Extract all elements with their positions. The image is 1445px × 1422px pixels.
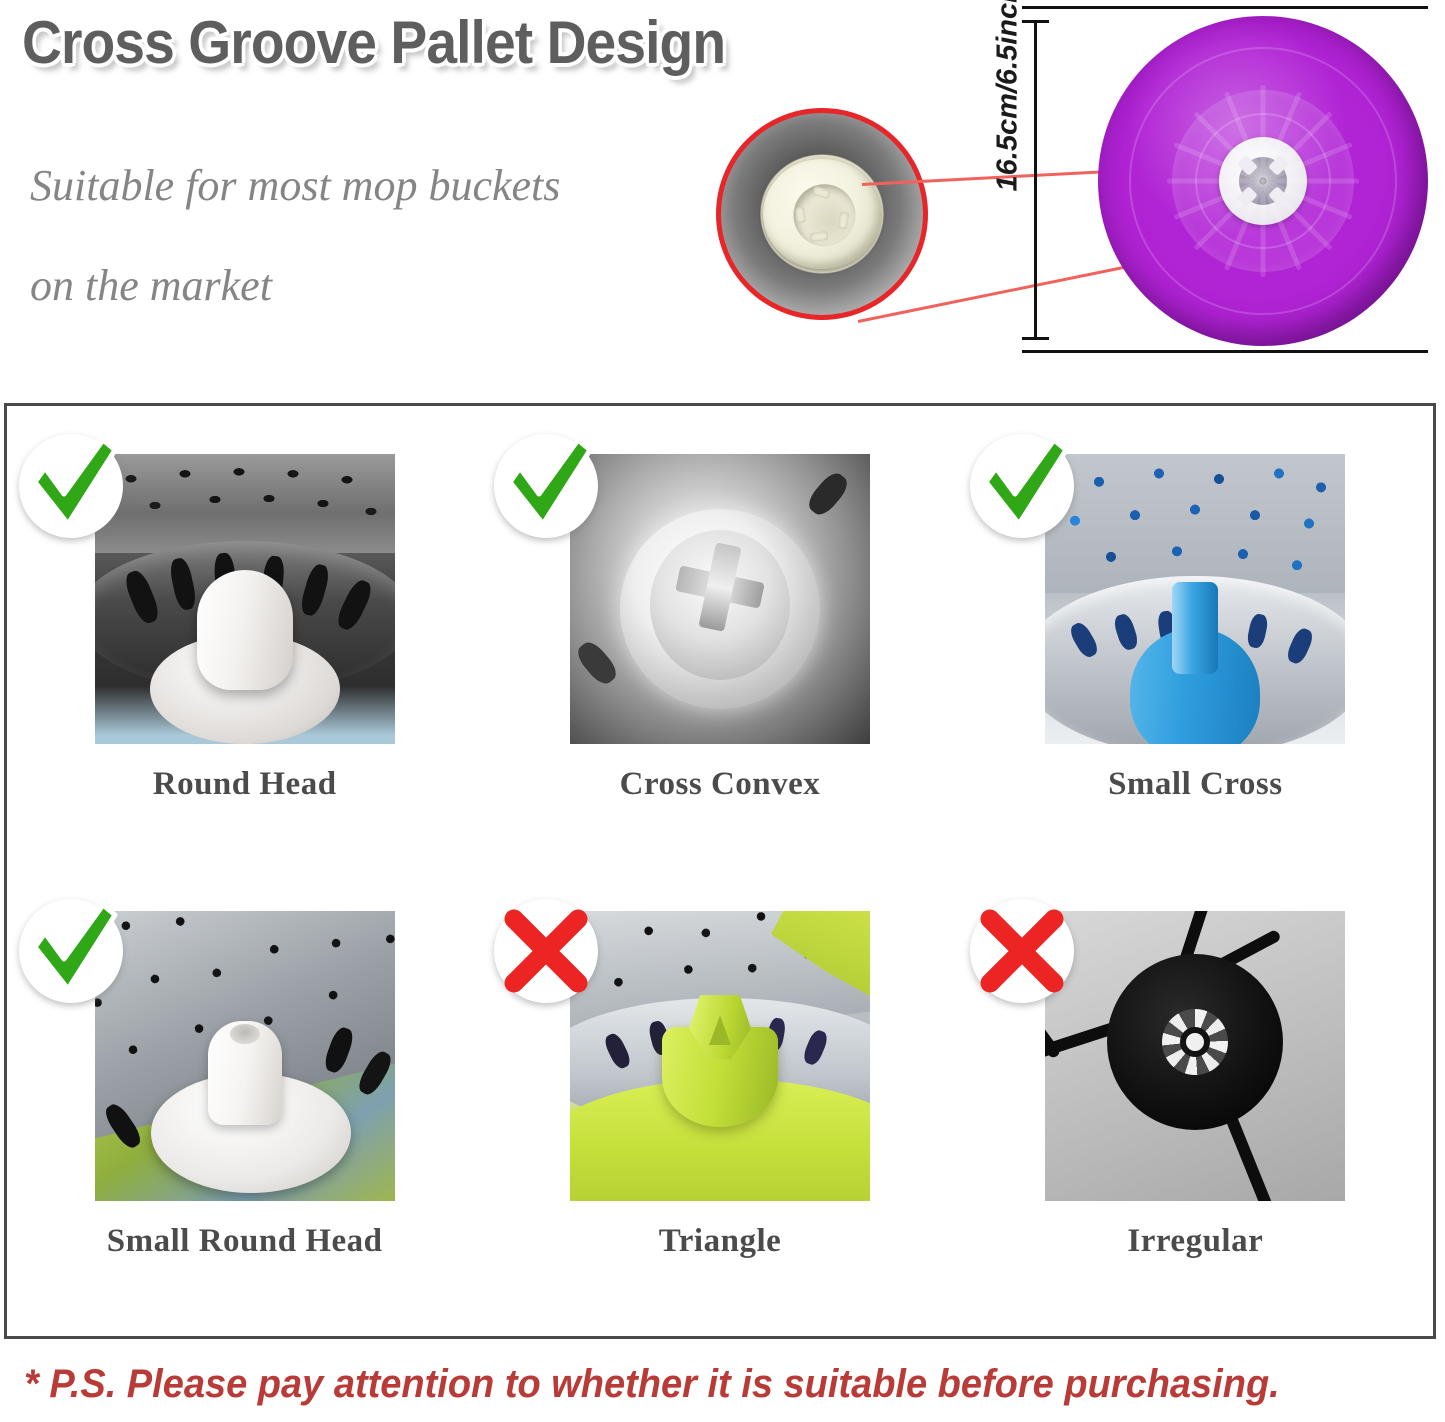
blue-spindle-spline <box>1172 582 1218 674</box>
cell-label: Round Head <box>7 766 482 803</box>
compatibility-grid: Round Head Cross Convex <box>7 406 1433 1336</box>
subtitle-line-1: Suitable for most mop buckets <box>30 160 560 211</box>
green-check-icon <box>19 899 123 1003</box>
dimension-line <box>1034 20 1037 340</box>
red-cross-icon <box>494 899 598 1003</box>
photo-triangle <box>570 911 870 1201</box>
cell-label: Small Round Head <box>7 1223 482 1260</box>
compatibility-cell-cross-convex[interactable]: Cross Convex <box>482 406 957 871</box>
header-section: Cross Groove Pallet Design Suitable for … <box>0 0 1445 400</box>
round-head-spindle <box>197 570 293 690</box>
socket-notch <box>795 207 806 224</box>
green-check-icon <box>494 434 598 538</box>
pallet-spoke <box>1261 181 1266 277</box>
pallet-spoke <box>1261 85 1266 181</box>
photo-small-cross <box>1045 454 1345 744</box>
photo-round-head <box>95 454 395 744</box>
dimension-tick-top <box>1022 20 1049 23</box>
compatibility-cell-small-cross[interactable]: Small Cross <box>958 406 1433 871</box>
dimension-rule-bottom <box>1022 350 1428 353</box>
photo-small-round-head <box>95 911 395 1201</box>
green-check-icon <box>19 434 123 538</box>
compatibility-panel: Round Head Cross Convex <box>4 403 1436 1339</box>
cell-label: Triangle <box>482 1223 957 1260</box>
compatibility-cell-small-round-head[interactable]: Small Round Head <box>7 871 482 1336</box>
spindle-bore <box>230 1024 260 1044</box>
compatibility-cell-irregular[interactable]: Irregular <box>958 871 1433 1336</box>
cell-label: Irregular <box>958 1223 1433 1260</box>
compatibility-cell-triangle[interactable]: Triangle <box>482 871 957 1336</box>
photo-irregular <box>1045 911 1345 1201</box>
page-title: Cross Groove Pallet Design <box>22 8 725 77</box>
pallet-spoke <box>1167 179 1263 184</box>
drum-wall-perforations <box>1045 454 1345 593</box>
drum-slot <box>573 637 621 688</box>
purchase-note: * P.S. Please pay attention to whether i… <box>24 1362 1280 1407</box>
dimension-label: 16.5cm/6.5inch <box>992 0 1025 192</box>
cell-label: Small Cross <box>958 766 1433 803</box>
drum-perforation-band <box>95 454 395 553</box>
socket-notch <box>810 230 829 241</box>
drum-slot <box>804 469 852 520</box>
pallet-spoke <box>1263 179 1359 184</box>
cell-label: Cross Convex <box>482 766 957 803</box>
compatibility-cell-round-head[interactable]: Round Head <box>7 406 482 871</box>
irregular-hub-center <box>1180 1027 1210 1057</box>
socket-outer-ring <box>763 159 881 269</box>
mop-pallet-product-image <box>1098 16 1428 346</box>
socket-closeup-callout <box>716 108 928 320</box>
dimension-tick-bottom <box>1022 337 1049 340</box>
photo-cross-convex <box>570 454 870 744</box>
red-cross-icon <box>970 899 1074 1003</box>
dimension-rule-top <box>1022 6 1428 9</box>
subtitle-line-2: on the market <box>30 260 272 311</box>
green-check-icon <box>970 434 1074 538</box>
